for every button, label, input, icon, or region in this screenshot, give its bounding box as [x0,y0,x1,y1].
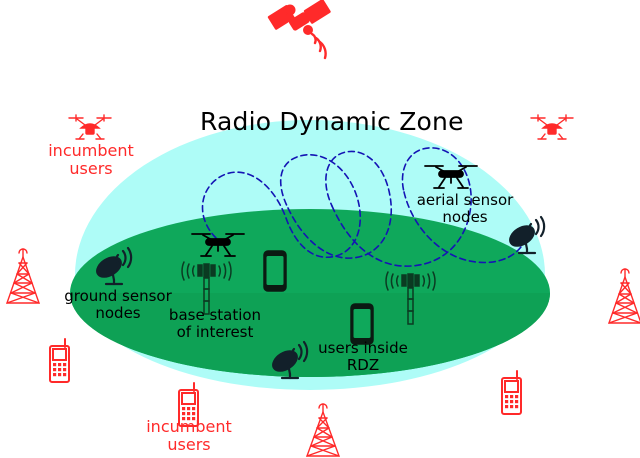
drone-icon [190,228,246,262]
base-station-of-interest-label: base station of interest [150,307,280,341]
drone-icon [423,160,479,194]
page-title: Radio Dynamic Zone [200,107,464,136]
drone-icon [66,112,114,142]
rdz-diagram: Radio Dynamic Zone [0,0,640,457]
transmission-tower-icon [302,400,344,458]
transmission-tower-icon [604,265,640,327]
incumbent-users-left-label: incumbent users [36,142,146,178]
incumbent-users-bottom-label: incumbent users [134,418,244,454]
drone-icon [528,112,576,142]
smartphone-icon [263,250,287,292]
satellite-icon [268,2,336,56]
feature-phone-icon [498,370,526,418]
cell-tower-icon [382,268,444,328]
users-inside-rdz-label: users inside RDZ [303,340,423,374]
satellite-dish-icon [505,215,551,261]
feature-phone-icon [46,338,74,386]
satellite-dish-icon [92,246,138,292]
transmission-tower-icon [2,245,44,307]
